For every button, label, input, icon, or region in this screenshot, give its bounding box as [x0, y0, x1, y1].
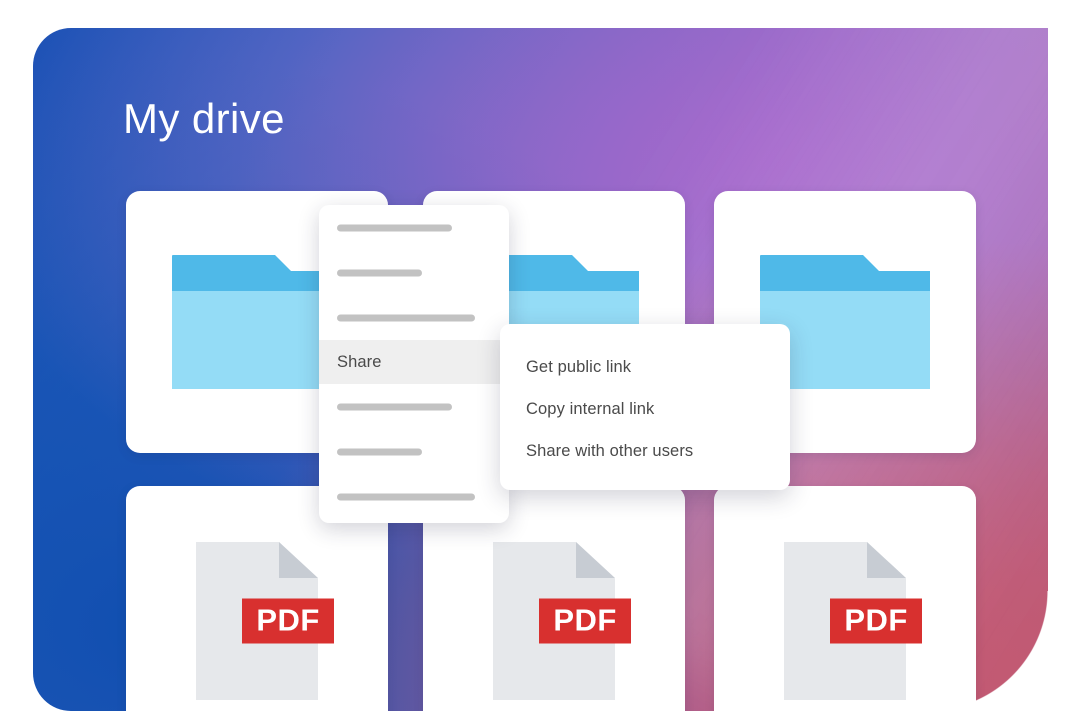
pdf-badge: PDF: [830, 599, 922, 644]
menu-item-placeholder[interactable]: [319, 384, 509, 429]
menu-item-share-label: Share: [337, 353, 382, 372]
submenu-item-copy-internal-link[interactable]: Copy internal link: [500, 388, 790, 430]
folder-body-shape: [172, 291, 342, 389]
folder-tab-shape: [172, 255, 275, 271]
menu-item-placeholder[interactable]: [319, 474, 509, 519]
pdf-file-icon: PDF: [493, 542, 615, 700]
file-fold-corner-shape: [576, 542, 615, 578]
context-menu-group-below: [319, 384, 509, 519]
pdf-file-icon: PDF: [196, 542, 318, 700]
folder-top-shape: [760, 271, 930, 291]
menu-item-share[interactable]: Share: [319, 340, 509, 384]
placeholder-bar: [337, 403, 452, 410]
pdf-card-3[interactable]: PDF: [714, 486, 976, 711]
submenu-item-label: Share with other users: [526, 442, 693, 461]
file-fold-corner-shape: [867, 542, 906, 578]
menu-item-placeholder[interactable]: [319, 295, 509, 340]
placeholder-bar: [337, 269, 422, 276]
placeholder-bar: [337, 314, 475, 321]
folder-icon: [172, 255, 342, 389]
menu-item-placeholder[interactable]: [319, 429, 509, 474]
share-submenu[interactable]: Get public link Copy internal link Share…: [500, 324, 790, 490]
pdf-badge: PDF: [242, 599, 334, 644]
screenshot-root: My drive: [0, 0, 1079, 711]
folder-tab-shape: [760, 255, 863, 271]
pdf-file-icon: PDF: [784, 542, 906, 700]
file-fold-corner-shape: [279, 542, 318, 578]
folder-top-shape: [172, 271, 342, 291]
menu-item-placeholder[interactable]: [319, 205, 509, 250]
submenu-item-get-public-link[interactable]: Get public link: [500, 346, 790, 388]
page-title: My drive: [123, 98, 285, 140]
submenu-item-share-with-other-users[interactable]: Share with other users: [500, 430, 790, 472]
placeholder-bar: [337, 224, 452, 231]
context-menu-group-above: [319, 205, 509, 340]
context-menu[interactable]: Share: [319, 205, 509, 523]
submenu-item-label: Get public link: [526, 358, 631, 377]
placeholder-bar: [337, 493, 475, 500]
menu-item-placeholder[interactable]: [319, 250, 509, 295]
submenu-item-label: Copy internal link: [526, 400, 654, 419]
placeholder-bar: [337, 448, 422, 455]
pdf-badge: PDF: [539, 599, 631, 644]
